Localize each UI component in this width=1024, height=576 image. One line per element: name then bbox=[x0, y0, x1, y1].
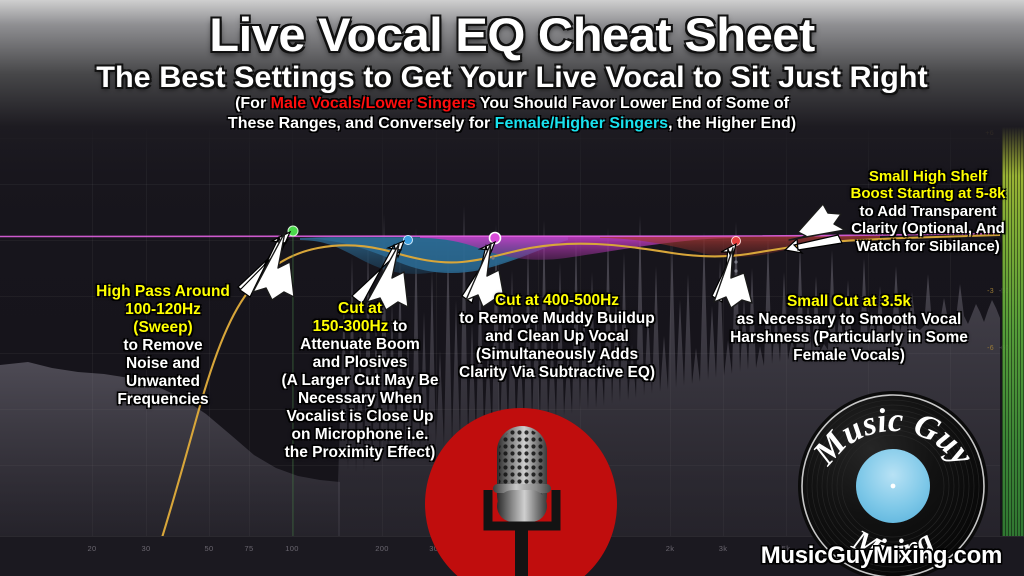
annotation-key-cut-400-500: Cut at 400-500Hz bbox=[495, 292, 619, 309]
annotation-high-pass: High Pass Around100-120Hz(Sweep) to Remo… bbox=[68, 283, 258, 409]
annotation-body-high-shelf: to Add TransparentClarity (Optional, And… bbox=[851, 203, 1005, 255]
annotation-body-cut-150-300: toAttenuate Boomand Plosives(A Larger Cu… bbox=[281, 318, 438, 461]
annotation-body-high-pass: to RemoveNoise andUnwantedFrequencies bbox=[117, 337, 208, 408]
annotation-body-cut-400-500: to Remove Muddy Buildupand Clean Up Voca… bbox=[459, 310, 655, 381]
annotation-cut-3-5k: Small Cut at 3.5k as Necessary to Smooth… bbox=[700, 293, 998, 365]
eq-cheat-sheet-infographic: +6 -3 -6 -30 -50 -60 20 30 50 75 100 200… bbox=[0, 0, 1024, 576]
annotation-body-cut-3-5k: as Necessary to Smooth VocalHarshness (P… bbox=[730, 311, 968, 364]
website-url[interactable]: MusicGuyMixing.com bbox=[761, 542, 1002, 570]
microphone-badge bbox=[425, 408, 617, 576]
annotation-high-shelf: Small High ShelfBoost Starting at 5-8k t… bbox=[830, 168, 1024, 255]
mic-stand bbox=[515, 522, 528, 576]
annotation-cut-400-500: Cut at 400-500Hz to Remove Muddy Buildup… bbox=[424, 292, 690, 382]
annotation-key-high-pass: High Pass Around100-120Hz(Sweep) bbox=[96, 283, 230, 336]
microphone-icon bbox=[425, 408, 617, 576]
annotation-key-cut-150-300: Cut at150-300Hz bbox=[313, 300, 389, 335]
annotation-key-cut-3-5k: Small Cut at 3.5k bbox=[787, 293, 911, 310]
vinyl-spindle-hole bbox=[891, 484, 896, 489]
annotation-key-high-shelf: Small High ShelfBoost Starting at 5-8k bbox=[850, 168, 1005, 202]
arrow-glyph-highpass bbox=[253, 232, 294, 300]
mic-body bbox=[497, 490, 547, 522]
